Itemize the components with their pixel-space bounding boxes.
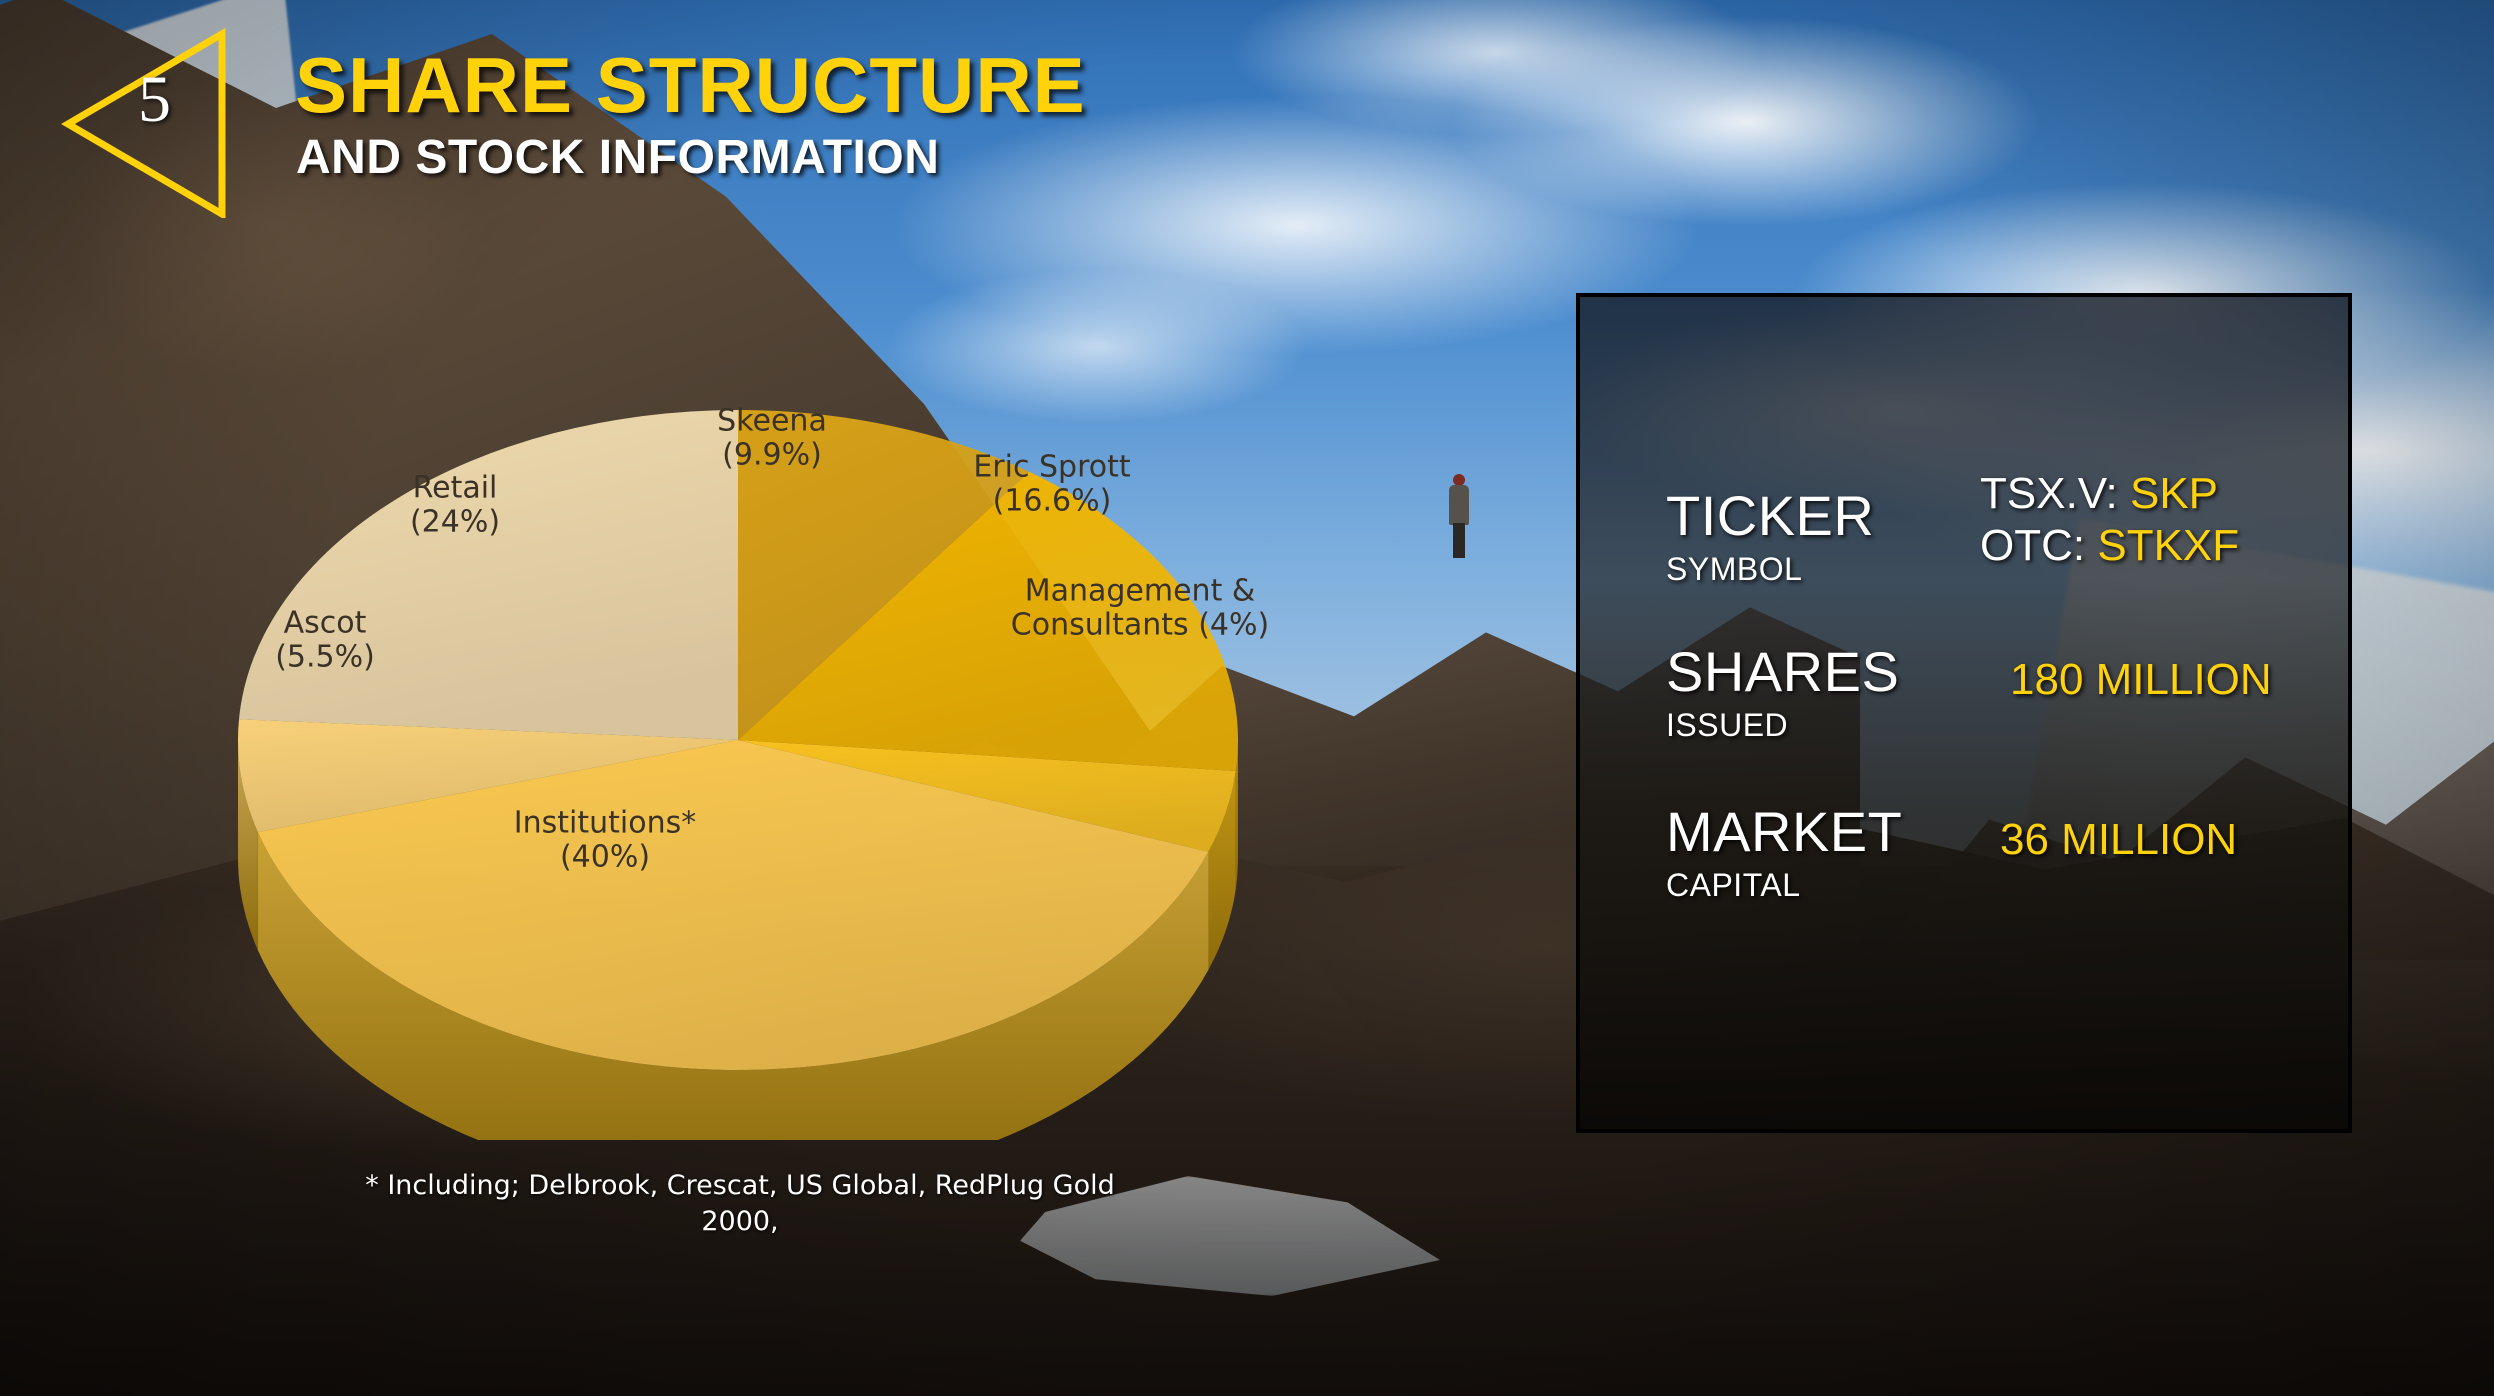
value-text: 180 MILLION	[2010, 655, 2272, 704]
value-label: TSX.V:	[1980, 469, 2118, 518]
value-text: STKXF	[2097, 521, 2239, 570]
slide-header: 5 SHARE STRUCTURE AND STOCK INFORMATION	[0, 0, 2494, 230]
value-text: 36 MILLION	[2000, 815, 2237, 864]
pie-label-institutions: Institutions*(40%)	[514, 806, 696, 873]
info-row-title: SHARES	[1666, 639, 1899, 704]
info-row-value: 36 MILLION	[2000, 815, 2237, 865]
value-text: SKP	[2130, 469, 2218, 518]
info-row-value: OTC: STKXF	[1980, 521, 2239, 571]
pie-label-management-consultants: Management &Consultants (4%)	[1011, 574, 1269, 641]
pie-label-skeena: Skeena(9.9%)	[717, 404, 827, 471]
info-row-subtitle: CAPITAL	[1666, 867, 1801, 904]
slide-canvas: 5 SHARE STRUCTURE AND STOCK INFORMATION …	[0, 0, 2494, 1396]
info-row-subtitle: SYMBOL	[1666, 551, 1802, 588]
info-row-market: MARKETCAPITAL36 MILLION	[1580, 297, 2348, 298]
pie-label-eric-sprott: Eric Sprott(16.6%)	[973, 450, 1130, 517]
stock-information-panel: TICKERSYMBOLTSX.V: SKPOTC: STKXFSHARESIS…	[1576, 293, 2352, 1133]
share-structure-pie-chart: Skeena(9.9%)Eric Sprott(16.6%)Management…	[148, 400, 1328, 1140]
value-label: OTC:	[1980, 521, 2085, 570]
chart-footnote: * Including; Delbrook, Crescat, US Globa…	[330, 1168, 1150, 1239]
pie-label-ascot: Ascot(5.5%)	[275, 606, 375, 673]
info-row-value: TSX.V: SKP	[1980, 469, 2218, 519]
info-row-subtitle: ISSUED	[1666, 707, 1788, 744]
pie-chart-svg	[148, 400, 1328, 1140]
page-title: SHARE STRUCTURE	[295, 40, 1086, 131]
slide-number: 5	[138, 62, 171, 138]
info-row-title: TICKER	[1666, 483, 1874, 548]
info-row-value: 180 MILLION	[2010, 655, 2272, 705]
pie-label-retail: Retail(24%)	[410, 471, 500, 538]
info-row-title: MARKET	[1666, 799, 1902, 864]
page-subtitle: AND STOCK INFORMATION	[296, 130, 939, 185]
pie-slice-retail	[239, 410, 738, 740]
